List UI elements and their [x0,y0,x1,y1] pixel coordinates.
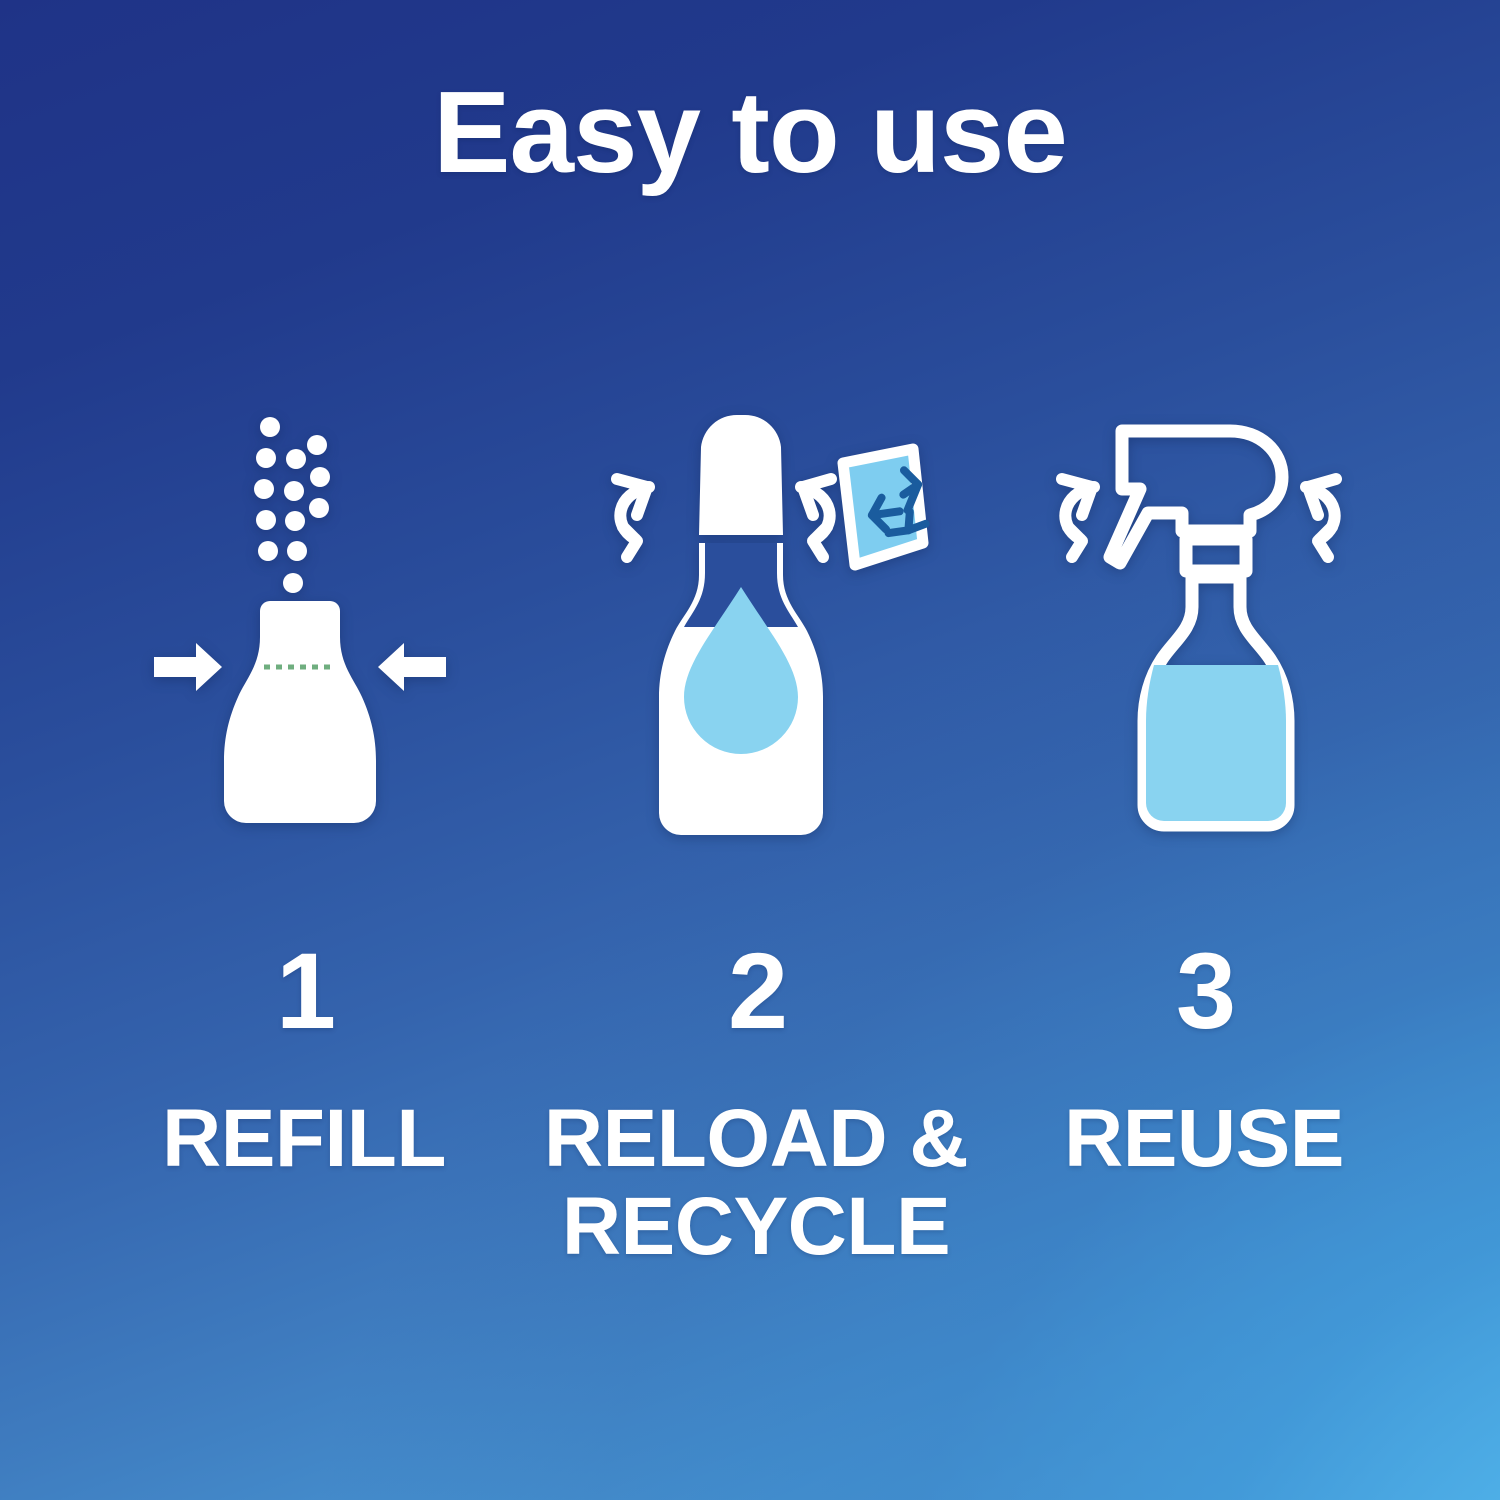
title-container: Easy to use [0,74,1500,190]
bottle-liquid-fill [1146,665,1286,821]
step-2-artwork [528,395,988,845]
step-1-label: REFILL [162,1095,446,1183]
step-2-label: RELOAD & RECYCLE [544,1095,968,1270]
twist-arrow-right-icon [801,479,831,557]
arrow-right-icon [154,643,222,691]
step-1-number: 1 [276,937,336,1045]
step-2-reload-recycle: 2 RELOAD & RECYCLE [520,395,980,1270]
step-3-label: REUSE [1064,1095,1344,1183]
easy-to-use-poster: Easy to use [0,0,1500,1500]
page-title: Easy to use [433,74,1067,190]
droplet-stream-icon [254,417,330,593]
arrow-left-icon [378,643,446,691]
step-3-artwork [974,395,1434,845]
step-1-artwork [72,395,532,845]
recycle-sachet-icon [843,449,926,565]
twist-arrow-left-icon [1062,479,1094,557]
twist-arrow-left-icon [617,479,649,557]
twist-arrow-right-icon [1306,479,1336,557]
bottle-cap-icon [699,415,783,535]
step-2-number: 2 [728,937,788,1045]
trigger-sprayer-head-icon [1110,431,1282,571]
step-1-refill: 1 REFILL [60,395,520,1183]
bottle-droplets-squeeze-icon [152,415,452,845]
steps-row: 1 REFILL [0,395,1500,1295]
step-3-number: 3 [1176,937,1236,1045]
step-3-reuse: 3 REUSE [980,395,1440,1183]
spray-bottle-icon [1044,415,1364,845]
empty-bottle-icon [224,601,376,823]
bottle-cap-twist-recycle-icon [593,415,923,845]
